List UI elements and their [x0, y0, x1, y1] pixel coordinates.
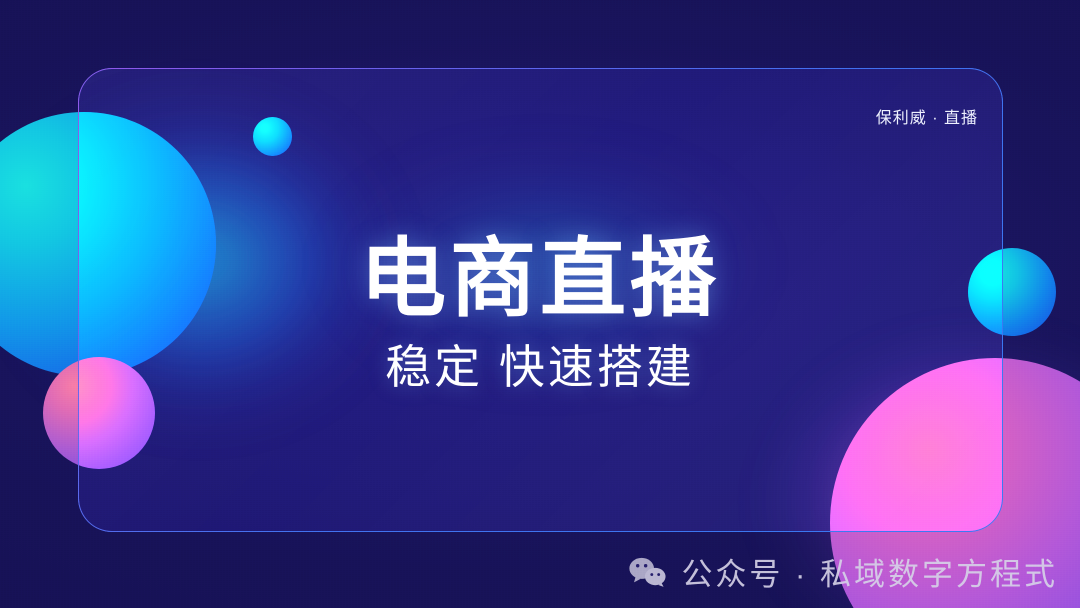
glass-card-frame [78, 68, 1003, 532]
slide-canvas: 保利威 · 直播 电商直播 稳定 快速搭建 公众号 · 私域数字方程式 [0, 0, 1080, 608]
brand-tag: 保利威 · 直播 [876, 104, 978, 128]
footer-label: 公众号 · 私域数字方程式 [681, 549, 1058, 594]
footer: 公众号 · 私域数字方程式 [629, 549, 1058, 594]
wechat-icon [629, 557, 667, 587]
